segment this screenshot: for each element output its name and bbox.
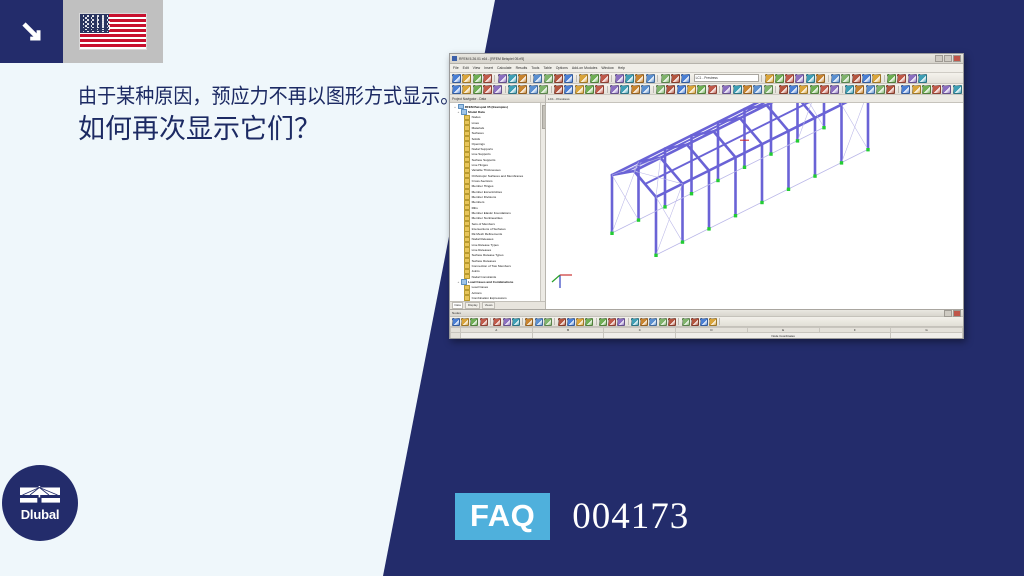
- table-toolbar-button[interactable]: [617, 318, 625, 326]
- toolbar-button[interactable]: [518, 85, 527, 94]
- folder-icon: [464, 263, 470, 268]
- table-toolbar-button[interactable]: [700, 318, 708, 326]
- toolbar-separator: [494, 75, 495, 82]
- faq-badge: FAQ: [455, 493, 550, 540]
- tree-item-label: Ribs: [472, 206, 478, 210]
- tree-item-label: Member Nonlinearities: [472, 216, 503, 220]
- toolbar-separator: [628, 318, 629, 325]
- tree-expander-icon[interactable]: [460, 232, 464, 236]
- dlubal-wordmark: Dlubal: [21, 508, 60, 521]
- toolbar-button[interactable]: [671, 74, 680, 83]
- table-header-cell: Node No.: [451, 333, 461, 340]
- toolbar-button[interactable]: [908, 74, 917, 83]
- faq-footer: FAQ 004173: [455, 493, 689, 540]
- tree-item-label: Member Hinges: [472, 184, 494, 188]
- toolbar-button[interactable]: [841, 74, 850, 83]
- tree-item-label: Connection of Two Members: [472, 264, 511, 268]
- tree-item-label: RFEM Beispiel 05 (Examples): [465, 105, 508, 109]
- table-toolbar-button[interactable]: [659, 318, 667, 326]
- toolbar-separator: [530, 75, 531, 82]
- menu-item-tools[interactable]: Tools: [531, 66, 539, 70]
- toolbar-separator: [490, 318, 491, 325]
- faq-number: 004173: [572, 498, 689, 535]
- tree-expander-icon[interactable]: [460, 200, 464, 204]
- toolbar-separator: [551, 86, 552, 93]
- folder-icon: [464, 125, 470, 130]
- toolbar-button[interactable]: [533, 74, 542, 83]
- toolbar-button[interactable]: [564, 85, 573, 94]
- menu-item-edit[interactable]: Edit: [463, 66, 469, 70]
- tree-item-label: Cross-Sections: [472, 179, 493, 183]
- headline-line-1: 由于某种原因，预应力不再以图形方式显示。: [78, 84, 413, 110]
- dlubal-logo: Dlubal: [2, 465, 78, 541]
- table-toolbar-button[interactable]: [480, 318, 488, 326]
- table-toolbar-button[interactable]: [709, 318, 717, 326]
- toolbar-button[interactable]: [544, 74, 553, 83]
- tree-item-label: Joints: [472, 269, 480, 273]
- model-canvas[interactable]: [546, 103, 963, 309]
- tree-expander-icon[interactable]: [460, 190, 464, 194]
- toolbar-button[interactable]: [775, 74, 784, 83]
- structure-model-graphic: [546, 103, 963, 303]
- toolbar-button[interactable]: [677, 85, 686, 94]
- toolbar-button[interactable]: [845, 85, 854, 94]
- toolbar-button[interactable]: [820, 85, 829, 94]
- tree-expander-icon[interactable]: [460, 237, 464, 241]
- toolbar-button[interactable]: [708, 85, 717, 94]
- menu-item-view[interactable]: View: [473, 66, 481, 70]
- toolbar-button[interactable]: [483, 85, 492, 94]
- tree-item-label: Materials: [472, 126, 485, 130]
- toolbar-button[interactable]: [942, 85, 951, 94]
- toolbar-button[interactable]: [789, 85, 798, 94]
- toolbar-separator: [505, 86, 506, 93]
- folder-icon: [461, 279, 467, 284]
- headline-line-2: 如何再次显示它们？: [78, 112, 438, 146]
- folder-icon: [464, 178, 470, 183]
- toolbar-button[interactable]: [785, 74, 794, 83]
- table-toolbar-button[interactable]: [585, 318, 593, 326]
- tree-item-label: Openings: [472, 142, 485, 146]
- tree-item-label: Solids: [472, 137, 480, 141]
- toolbar-separator: [775, 86, 776, 93]
- toolbar-button[interactable]: [816, 74, 825, 83]
- table-toolbar-button[interactable]: [691, 318, 699, 326]
- toolbar-button[interactable]: [508, 74, 517, 83]
- toolbar-button[interactable]: [635, 74, 644, 83]
- table-toolbar-button[interactable]: [631, 318, 639, 326]
- toolbar-button[interactable]: [656, 85, 665, 94]
- minimize-button[interactable]: [935, 55, 943, 62]
- toolbar-button[interactable]: [498, 74, 507, 83]
- menu-item-results[interactable]: Results: [516, 66, 528, 70]
- tree-expander-icon[interactable]: [460, 163, 464, 167]
- tree-expander-icon[interactable]: [460, 142, 464, 146]
- menu-item-table[interactable]: Table: [543, 66, 551, 70]
- tree-expander-icon[interactable]: [460, 269, 464, 273]
- slide-canvas: 由于某种原因，预应力不再以图形方式显示。 如何再次显示它们？ Dlubal FA…: [0, 0, 1024, 576]
- project-navigator: Project Navigator - Data +RFEM Beispiel …: [450, 95, 546, 309]
- toolbar-row-1[interactable]: LC1 - Prestress: [450, 73, 963, 84]
- tree-expander-icon[interactable]: [460, 285, 464, 289]
- window-title: RFEM 5.26.01 x64 - [RFEM Beispiel 05.rf5…: [459, 57, 935, 61]
- toolbar-button[interactable]: [564, 74, 573, 83]
- table-toolbar-button[interactable]: [668, 318, 676, 326]
- table-toolbar-button[interactable]: [461, 318, 469, 326]
- tree-item-label: Member Elastic Foundations: [472, 211, 511, 215]
- toolbar-button[interactable]: [687, 85, 696, 94]
- table-toolbar-button[interactable]: [525, 318, 533, 326]
- tree-expander-icon[interactable]: [460, 147, 464, 151]
- tree-item-label: Intersections of Surfaces: [472, 227, 506, 231]
- tree-item-label: Model Data: [468, 110, 485, 114]
- toolbar-button[interactable]: [681, 74, 690, 83]
- maximize-button[interactable]: [944, 55, 952, 62]
- toolbar-button[interactable]: [452, 74, 461, 83]
- toolbar-button[interactable]: [795, 74, 804, 83]
- tree-item-label: Surface Releases: [472, 259, 496, 263]
- toolbar-button[interactable]: [918, 74, 927, 83]
- toolbar-button[interactable]: [666, 85, 675, 94]
- toolbar-button[interactable]: [855, 85, 864, 94]
- tree-expander-icon[interactable]: [460, 168, 464, 172]
- tree-expander-icon[interactable]: [460, 115, 464, 119]
- toolbar-button[interactable]: [590, 74, 599, 83]
- toolbar-button[interactable]: [595, 85, 604, 94]
- folder-icon: [461, 109, 467, 114]
- table-toolbar-button[interactable]: [567, 318, 575, 326]
- toolbar-button[interactable]: [831, 74, 840, 83]
- tree-expander-icon[interactable]: [460, 174, 464, 178]
- table-toolbar-button[interactable]: [452, 318, 460, 326]
- toolbar-button[interactable]: [765, 74, 774, 83]
- toolbar-button[interactable]: [806, 74, 815, 83]
- tree-item-label: Line Releases: [472, 248, 492, 252]
- table-header-cell: Node Type: [461, 333, 533, 340]
- page-title: 由于某种原因，预应力不再以图形方式显示。 如何再次显示它们？: [78, 84, 438, 146]
- toolbar-button[interactable]: [743, 85, 752, 94]
- toolbar-separator: [842, 86, 843, 93]
- node-table[interactable]: ABCDEFGNode No.Node TypeReference NodeCo…: [450, 327, 963, 339]
- table-panel: Nodes ABCDEFGNode No.Node TypeReference …: [450, 309, 963, 339]
- toolbar-separator: [657, 75, 658, 82]
- toolbar-button[interactable]: [508, 85, 517, 94]
- table-toolbar-button[interactable]: [599, 318, 607, 326]
- tree-expander-icon[interactable]: [460, 291, 464, 295]
- toolbar-button[interactable]: [922, 85, 931, 94]
- toolbar-button[interactable]: [753, 85, 762, 94]
- tree-expander-icon[interactable]: [460, 259, 464, 263]
- load-case-combo[interactable]: LC1 - Prestress: [694, 74, 759, 82]
- toolbar-button[interactable]: [473, 74, 482, 83]
- tree-item-label: Actions: [472, 291, 482, 295]
- tree-item-label: Load Cases and Combinations: [468, 280, 513, 284]
- toolbar-button[interactable]: [554, 85, 563, 94]
- toolbar-separator: [653, 86, 654, 93]
- toolbar-separator: [828, 75, 829, 82]
- tree-expander-icon[interactable]: [460, 211, 464, 215]
- toolbar-button[interactable]: [722, 85, 731, 94]
- folder-icon: [464, 295, 470, 300]
- toolbar-button[interactable]: [585, 85, 594, 94]
- toolbar-button[interactable]: [610, 85, 619, 94]
- toolbar-separator: [611, 75, 612, 82]
- app-icon: [452, 56, 457, 61]
- tree-expander-icon[interactable]: [460, 264, 464, 268]
- toolbar-separator: [607, 86, 608, 93]
- toolbar-button[interactable]: [872, 74, 881, 83]
- table-toolbar-button[interactable]: [608, 318, 616, 326]
- toolbar-button[interactable]: [615, 74, 624, 83]
- tree-expander-icon[interactable]: [460, 152, 464, 156]
- toolbar-button[interactable]: [600, 74, 609, 83]
- toolbar-button[interactable]: [518, 74, 527, 83]
- toolbar-button[interactable]: [554, 74, 563, 83]
- navigator-title: Project Navigator - Data: [450, 95, 545, 103]
- toolbar-button[interactable]: [862, 74, 871, 83]
- tree-expander-icon[interactable]: [460, 227, 464, 231]
- tree-item-label: Variable Thicknesses: [472, 168, 501, 172]
- tree-expander-icon[interactable]: +: [456, 280, 460, 284]
- table-minimize-button[interactable]: [944, 310, 952, 317]
- model-view-panel: LC1 - Prestress: [546, 95, 963, 309]
- table-header-cell: Coordinate System: [604, 333, 676, 340]
- menu-item-add-on-modules[interactable]: Add-on Modules: [572, 66, 598, 70]
- table-toolbar-button[interactable]: [576, 318, 584, 326]
- table-header-cell: Reference Node: [532, 333, 604, 340]
- menu-item-options[interactable]: Options: [556, 66, 568, 70]
- toolbar-button[interactable]: [697, 85, 706, 94]
- tree-expander-icon[interactable]: [460, 158, 464, 162]
- folder-icon: [464, 194, 470, 199]
- toolbar-separator: [719, 86, 720, 93]
- toolbar-button[interactable]: [779, 85, 788, 94]
- tree-expander-icon[interactable]: [460, 248, 464, 252]
- tree-expander-icon[interactable]: [460, 121, 464, 125]
- toolbar-button[interactable]: [641, 85, 650, 94]
- toolbar-button[interactable]: [764, 85, 773, 94]
- toolbar-button[interactable]: [866, 85, 875, 94]
- tree-item-label: Member Eccentricities: [472, 190, 502, 194]
- folder-icon: [464, 247, 470, 252]
- tree-item-label: Nodal Supports: [472, 147, 493, 151]
- tree-expander-icon[interactable]: [460, 243, 464, 247]
- toolbar-button[interactable]: [646, 74, 655, 83]
- toolbar-button[interactable]: [886, 85, 895, 94]
- toolbar-button[interactable]: [483, 74, 492, 83]
- toolbar-separator: [576, 75, 577, 82]
- toolbar-separator: [554, 318, 555, 325]
- table-toolbar-button[interactable]: [512, 318, 520, 326]
- toolbar-button[interactable]: [733, 85, 742, 94]
- menu-item-window[interactable]: Window: [601, 66, 613, 70]
- toolbar-separator: [898, 86, 899, 93]
- toolbar-button[interactable]: [493, 85, 502, 94]
- table-toolbar-button[interactable]: [544, 318, 552, 326]
- toolbar-button[interactable]: [575, 85, 584, 94]
- tree-expander-icon[interactable]: [460, 253, 464, 257]
- tree-expander-icon[interactable]: [460, 275, 464, 279]
- toolbar-button[interactable]: [887, 74, 896, 83]
- tree-expander-icon[interactable]: [460, 131, 464, 135]
- toolbar-separator: [761, 75, 762, 82]
- table-toolbar-button[interactable]: [493, 318, 501, 326]
- toolbar-separator: [596, 318, 597, 325]
- toolbar-button[interactable]: [852, 74, 861, 83]
- toolbar-button[interactable]: [462, 74, 471, 83]
- table-toolbar-button[interactable]: [470, 318, 478, 326]
- tree-scrollbar[interactable]: [540, 103, 545, 301]
- tree-item-label: Sets of Members: [472, 222, 495, 226]
- tree-expander-icon[interactable]: [460, 126, 464, 130]
- toolbar-row-2[interactable]: [450, 84, 963, 95]
- menu-bar[interactable]: FileEditViewInsertCalculateResultsToolsT…: [450, 64, 963, 73]
- table-toolbar[interactable]: [450, 317, 963, 327]
- view-tab-label[interactable]: LC1 - Prestress: [548, 97, 570, 101]
- toolbar-separator: [678, 318, 679, 325]
- tree-expander-icon[interactable]: [460, 296, 464, 300]
- tree-item-label: Orthotropic Surfaces and Membranes: [472, 174, 524, 178]
- toolbar-button[interactable]: [661, 74, 670, 83]
- tree-item-label: Load Cases: [472, 285, 489, 289]
- window-titlebar: RFEM 5.26.01 x64 - [RFEM Beispiel 05.rf5…: [450, 54, 963, 64]
- folder-icon: [464, 210, 470, 215]
- tree-item-label: Surface Supports: [472, 158, 496, 162]
- table-toolbar-button[interactable]: [535, 318, 543, 326]
- toolbar-button[interactable]: [631, 85, 640, 94]
- toolbar-separator: [884, 75, 885, 82]
- menu-item-help[interactable]: Help: [618, 66, 625, 70]
- toolbar-button[interactable]: [912, 85, 921, 94]
- table-header-cell: Comment: [891, 333, 963, 340]
- dlubal-bridge-icon: [18, 485, 62, 507]
- usa-flag-icon: [63, 0, 163, 63]
- table-toolbar-button[interactable]: [682, 318, 690, 326]
- tree-item-label: Line Release Types: [472, 243, 499, 247]
- tree-item-label: Surface Release Types: [472, 253, 504, 257]
- toolbar-button[interactable]: [953, 85, 962, 94]
- close-button[interactable]: [953, 55, 961, 62]
- tree-expander-icon[interactable]: [460, 179, 464, 183]
- navigator-tab-data[interactable]: Data: [452, 302, 463, 310]
- navigator-tab-views[interactable]: Views: [482, 302, 495, 310]
- tree-item-label: Lines: [472, 121, 479, 125]
- table-toolbar-button[interactable]: [558, 318, 566, 326]
- toolbar-button[interactable]: [799, 85, 808, 94]
- toolbar-button[interactable]: [539, 85, 548, 94]
- tree-expander-icon[interactable]: [460, 222, 464, 226]
- tree-expander-icon[interactable]: [460, 195, 464, 199]
- toolbar-button[interactable]: [473, 85, 482, 94]
- navigator-tab-display[interactable]: Display: [465, 302, 480, 310]
- toolbar-button[interactable]: [579, 74, 588, 83]
- tree-item-label: Line Hinges: [472, 163, 488, 167]
- table-toolbar-button[interactable]: [640, 318, 648, 326]
- tree-item-label: Nodal Constraints: [472, 275, 497, 279]
- toolbar-button[interactable]: [830, 85, 839, 94]
- arrow-down-right-icon: [0, 0, 63, 63]
- tree-item-label: Members: [472, 200, 485, 204]
- table-close-button[interactable]: [953, 310, 961, 317]
- toolbar-separator: [719, 318, 720, 325]
- toolbar-separator: [522, 318, 523, 325]
- toolbar-button[interactable]: [876, 85, 885, 94]
- tree-item-label: Member Divisions: [472, 195, 497, 199]
- tree-expander-icon[interactable]: +: [456, 110, 460, 114]
- tree-expander-icon[interactable]: [460, 184, 464, 188]
- tree-item-label: Surfaces: [472, 131, 484, 135]
- work-area: Project Navigator - Data +RFEM Beispiel …: [450, 95, 963, 309]
- table-toolbar-button[interactable]: [649, 318, 657, 326]
- toolbar-button[interactable]: [462, 85, 471, 94]
- toolbar-button[interactable]: [901, 85, 910, 94]
- toolbar-button[interactable]: [897, 74, 906, 83]
- toolbar-button[interactable]: [810, 85, 819, 94]
- tree-item-label: Nodes: [472, 115, 481, 119]
- menu-item-file[interactable]: File: [453, 66, 459, 70]
- table-titlebar: Nodes: [450, 310, 963, 317]
- table-title: Nodes: [452, 311, 944, 315]
- folder-icon: [464, 162, 470, 167]
- tree-item-label: Line Supports: [472, 152, 491, 156]
- tree-item-label: FE Mesh Refinements: [472, 232, 503, 236]
- toolbar-button[interactable]: [625, 74, 634, 83]
- tree-item-label: Combination Expressions: [472, 296, 507, 300]
- toolbar-button[interactable]: [529, 85, 538, 94]
- toolbar-button[interactable]: [620, 85, 629, 94]
- toolbar-button[interactable]: [932, 85, 941, 94]
- table-toolbar-button[interactable]: [503, 318, 511, 326]
- tree-item-label: Nodal Releases: [472, 237, 494, 241]
- menu-item-insert[interactable]: Insert: [484, 66, 493, 70]
- tree-expander-icon[interactable]: [460, 216, 464, 220]
- navigator-tabs[interactable]: DataDisplayViews: [450, 301, 545, 309]
- tree-expander-icon[interactable]: [460, 137, 464, 141]
- menu-item-calculate[interactable]: Calculate: [497, 66, 512, 70]
- navigator-tree[interactable]: +RFEM Beispiel 05 (Examples)+Model DataN…: [450, 103, 545, 301]
- tree-expander-icon[interactable]: [460, 206, 464, 210]
- view-tabbar[interactable]: LC1 - Prestress: [546, 95, 963, 103]
- rfem-application-window: RFEM 5.26.01 x64 - [RFEM Beispiel 05.rf5…: [449, 53, 964, 339]
